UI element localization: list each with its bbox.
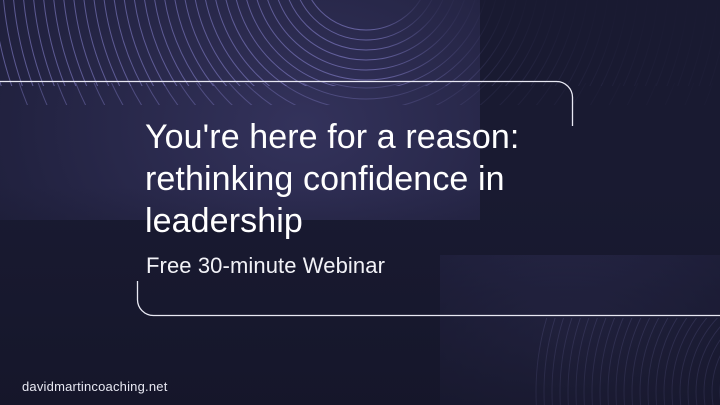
slide-title-line-2: rethinking confidence in	[145, 160, 505, 198]
presentation-slide: You're here for a reason:rethinking conf…	[0, 0, 720, 405]
bottom-right-glow	[440, 255, 720, 405]
slide-title: You're here for a reason:rethinking conf…	[145, 116, 585, 242]
slide-title-line-1: You're here for a reason:	[145, 118, 519, 156]
slide-title-line-3: leadership	[145, 202, 303, 240]
footer-website-url: davidmartincoaching.net	[22, 378, 168, 395]
slide-subtitle: Free 30-minute Webinar	[146, 252, 385, 280]
